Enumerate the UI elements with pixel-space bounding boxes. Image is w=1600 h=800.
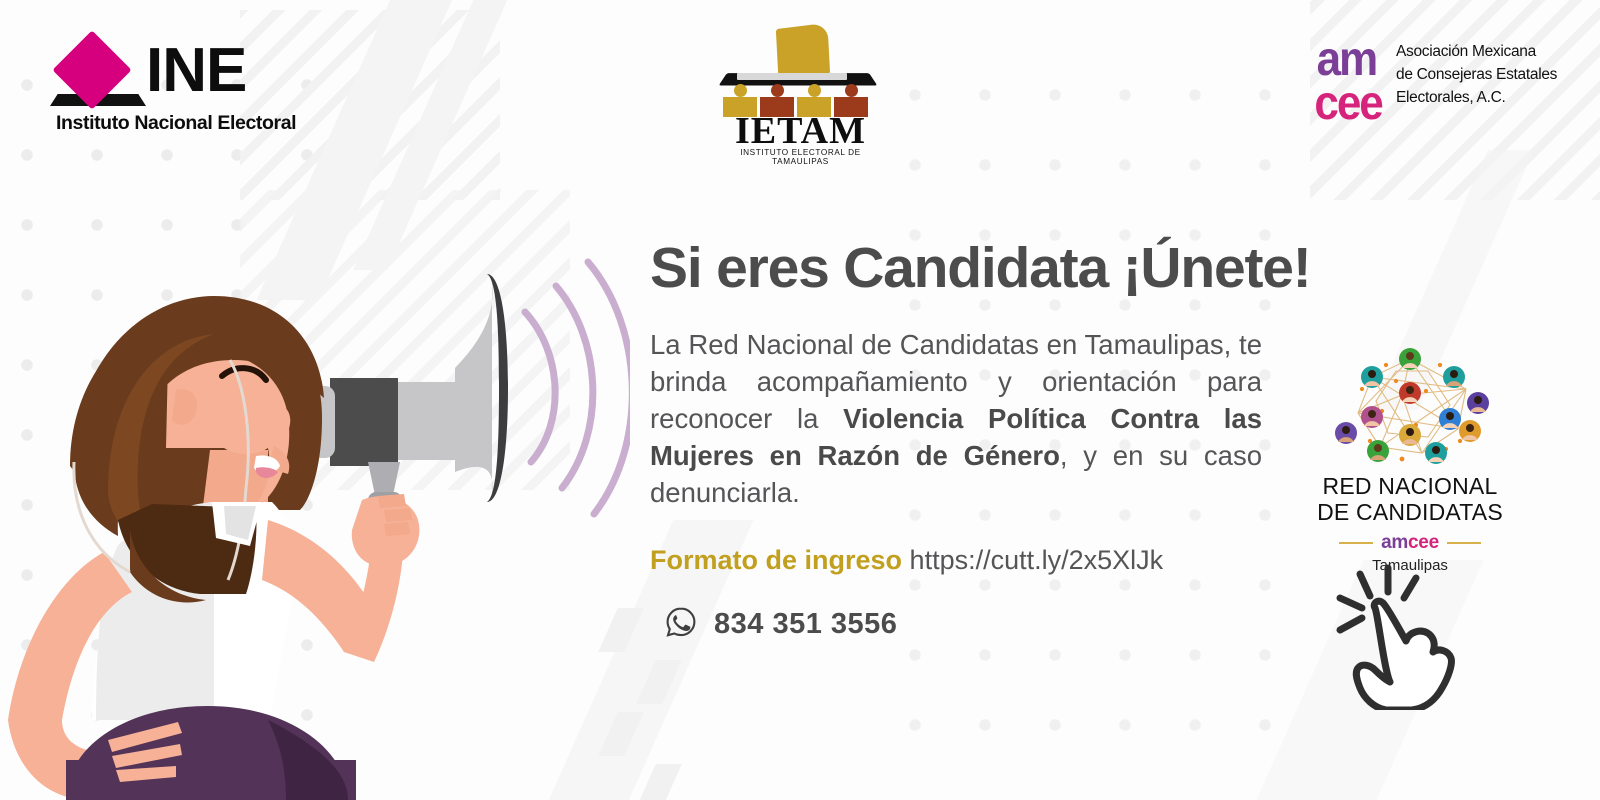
rule-right <box>1447 542 1481 544</box>
red-nacional-amcee: amcee <box>1381 532 1439 554</box>
amcee-mark-bottom: cee <box>1314 79 1381 127</box>
amcee-logo: am cee Asociación Mexicana de Consejeras… <box>1318 38 1558 134</box>
logo-bar: INE Instituto Nacional Electoral IETAM I… <box>0 0 1600 150</box>
red-nacional-network-icon <box>1310 345 1510 467</box>
woman-with-megaphone-illustration <box>0 200 630 800</box>
ietam-acronym: IETAM <box>713 114 888 148</box>
click-hand-icon <box>1312 560 1462 710</box>
red-nacional-amcee-row: amcee <box>1310 532 1510 554</box>
page-title: Si eres Candidata ¡Únete! <box>650 236 1320 300</box>
format-url-link[interactable]: https://cutt.ly/2x5XlJk <box>910 545 1164 575</box>
red-nacional-title: RED NACIONAL DE CANDIDATAS <box>1310 473 1510 525</box>
whatsapp-contact[interactable]: 834 351 3556 <box>650 605 1320 644</box>
poster-canvas: INE Instituto Nacional Electoral IETAM I… <box>0 0 1600 800</box>
red-nacional-logo: RED NACIONAL DE CANDIDATAS amcee Tamauli… <box>1310 345 1510 574</box>
red-nacional-title-line1: RED NACIONAL <box>1310 473 1510 499</box>
ballot-box-slot <box>737 73 847 80</box>
format-label: Formato de ingreso <box>650 545 902 575</box>
amcee-line-2: de Consejeras Estatales <box>1396 63 1566 86</box>
amcee-line-3: Electorales, A.C. <box>1396 86 1566 109</box>
ine-acronym: INE <box>146 40 246 102</box>
ietam-logo: IETAM INSTITUTO ELECTORAL DE TAMAULIPAS <box>705 22 895 140</box>
amcee-line-1: Asociación Mexicana <box>1396 40 1566 63</box>
red-nacional-title-line2: DE CANDIDATAS <box>1310 499 1510 525</box>
description-paragraph: La Red Nacional de Candidatas en Tamauli… <box>650 326 1262 511</box>
whatsapp-number: 834 351 3556 <box>714 608 897 641</box>
format-line: Formato de ingreso https://cutt.ly/2x5Xl… <box>650 543 1320 577</box>
amcee-fullname: Asociación Mexicana de Consejeras Estata… <box>1396 40 1566 109</box>
rhombus-2 <box>636 660 682 704</box>
amcee-a: am <box>1381 532 1408 553</box>
ine-logo: INE Instituto Nacional Electoral <box>56 36 316 136</box>
rule-left <box>1339 542 1373 544</box>
ietam-subtitle: INSTITUTO ELECTORAL DE TAMAULIPAS <box>713 148 888 166</box>
amcee-mark-icon: am cee <box>1318 38 1388 126</box>
amcee-b: cee <box>1408 532 1439 553</box>
rhombus-4 <box>636 764 682 800</box>
ine-subtitle: Instituto Nacional Electoral <box>56 112 296 135</box>
whatsapp-icon <box>664 605 698 644</box>
main-copy: Si eres Candidata ¡Únete! La Red Naciona… <box>650 236 1320 644</box>
